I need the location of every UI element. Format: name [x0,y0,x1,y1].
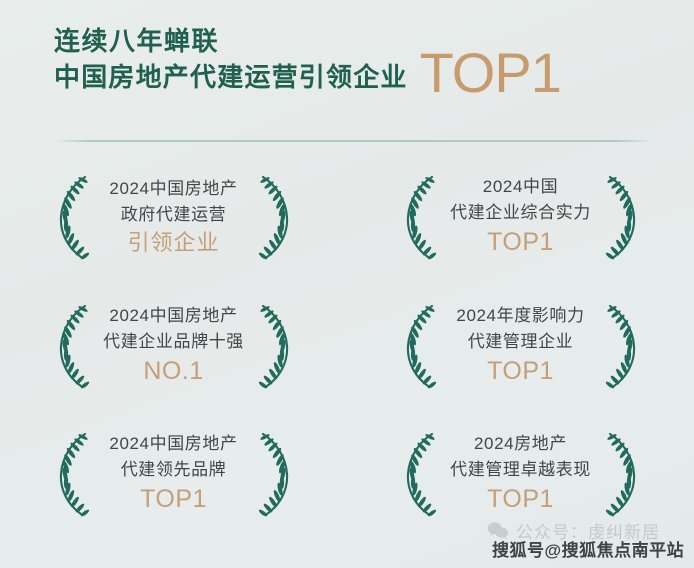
laurel-branch-right-icon [602,426,644,522]
award-badge-line-1: 2024年度影响力 [456,303,584,329]
award-badge-line-2: 代建企业品牌十强 [103,329,244,355]
laurel-branch-left-icon [398,169,440,265]
award-badge-line-2: 代建管理卓越表现 [450,457,591,483]
award-badge: 2024中国房地产 代建领先品牌 TOP1 [0,410,347,538]
header-title-block: 连续八年蝉联 中国房地产代建运营引领企业 [54,26,408,92]
award-badge-grid: 2024中国房地产 政府代建运营 引领企业 [0,152,694,538]
award-badge-line-1: 2024中国 [483,174,558,200]
laurel-branch-left-icon [398,298,440,394]
header-title-line-1: 连续八年蝉联 [54,26,408,56]
award-badge-text: 2024房地产 代建管理卓越表现 TOP1 [444,431,598,517]
award-badge-line-1: 2024中国房地产 [109,176,237,202]
award-badge-body: 2024中国房地产 代建领先品牌 TOP1 [51,426,297,522]
award-badge-line-2: 代建企业综合实力 [450,200,591,226]
award-badge: 2024中国房地产 政府代建运营 引领企业 [0,152,347,282]
award-badge-text: 2024年度影响力 代建管理企业 TOP1 [444,303,598,389]
award-badge-body: 2024房地产 代建管理卓越表现 TOP1 [398,426,644,522]
laurel-branch-right-icon [255,426,297,522]
award-badge-rank: TOP1 [140,483,207,517]
award-badge-text: 2024中国房地产 代建企业品牌十强 NO.1 [97,303,251,389]
laurel-branch-left-icon [51,426,93,522]
laurel-branch-right-icon [255,169,297,265]
award-badge-body: 2024中国房地产 政府代建运营 引领企业 [51,169,297,265]
header-rank-top1: TOP1 [420,47,561,99]
award-badge-text: 2024中国 代建企业综合实力 TOP1 [444,174,598,260]
header-inner: 连续八年蝉联 中国房地产代建运营引领企业 TOP1 [54,26,664,92]
award-badge-line-2: 政府代建运营 [121,202,227,228]
laurel-branch-left-icon [51,169,93,265]
sohu-watermark: 搜狐号@搜狐焦点南平站 [492,536,684,561]
award-badge-line-1: 2024中国房地产 [109,431,237,457]
award-badge-text: 2024中国房地产 代建领先品牌 TOP1 [97,431,251,517]
award-badge-rank: TOP1 [487,483,554,517]
award-badge-line-1: 2024中国房地产 [109,303,237,329]
award-badge-body: 2024中国 代建企业综合实力 TOP1 [398,169,644,265]
award-badge: 2024中国房地产 代建企业品牌十强 NO.1 [0,282,347,410]
poster-canvas: 连续八年蝉联 中国房地产代建运营引领企业 TOP1 [0,0,694,568]
award-badge-body: 2024年度影响力 代建管理企业 TOP1 [398,298,644,394]
award-badge-line-2: 代建管理企业 [468,329,574,355]
laurel-branch-right-icon [602,169,644,265]
poster-header: 连续八年蝉联 中国房地产代建运营引领企业 TOP1 [0,0,694,142]
award-badge: 2024年度影响力 代建管理企业 TOP1 [347,282,694,410]
laurel-branch-right-icon [255,298,297,394]
award-badge-rank: 引领企业 [127,228,219,258]
header-divider [54,140,654,142]
laurel-branch-left-icon [398,426,440,522]
award-badge-line-2: 代建领先品牌 [121,457,227,483]
award-badge: 2024中国 代建企业综合实力 TOP1 [347,152,694,282]
laurel-branch-left-icon [51,298,93,394]
laurel-branch-right-icon [602,298,644,394]
award-badge-text: 2024中国房地产 政府代建运营 引领企业 [97,176,251,258]
award-badge-rank: NO.1 [143,355,203,389]
award-badge-rank: TOP1 [487,355,554,389]
award-badge-rank: TOP1 [487,226,554,260]
award-badge-line-1: 2024房地产 [474,431,567,457]
sohu-watermark-text: 搜狐号@搜狐焦点南平站 [492,536,684,561]
header-title-line-2: 中国房地产代建运营引领企业 [54,62,408,92]
award-badge-body: 2024中国房地产 代建企业品牌十强 NO.1 [51,298,297,394]
